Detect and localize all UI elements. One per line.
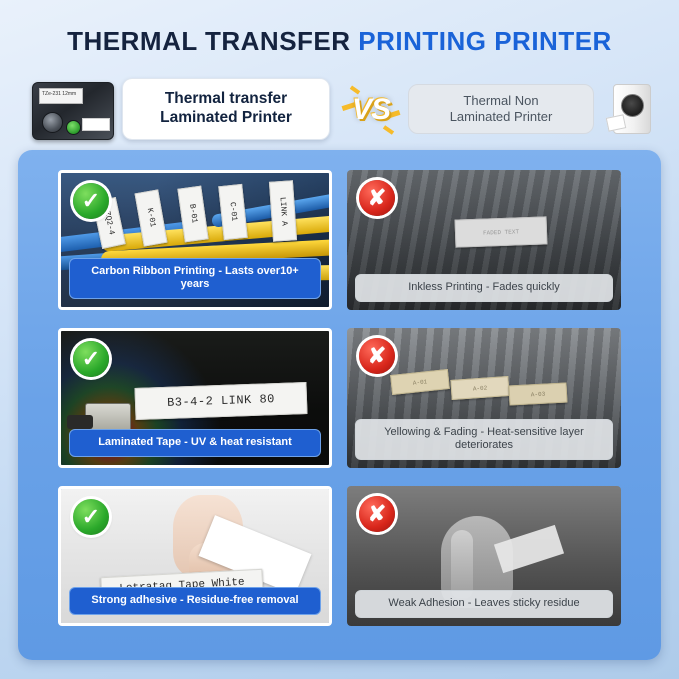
red-cross-icon: ✘ (359, 180, 395, 216)
comparison-cell-good-2: B3-4-2 LINK 80 ✓ Laminated Tape - UV & h… (58, 328, 332, 468)
tape-cassette-icon: TZe-231 12mm (32, 82, 114, 140)
rj45-cable (67, 415, 93, 429)
page-title-accent: PRINTING PRINTER (358, 26, 612, 56)
label-roll-icon (609, 80, 653, 138)
right-product-pill: Thermal Non Laminated Printer (408, 84, 594, 134)
page-title: THERMAL TRANSFER PRINTING PRINTER (0, 26, 679, 57)
right-product-label: Thermal Non Laminated Printer (450, 93, 553, 124)
red-cross-icon: ✘ (359, 338, 395, 374)
cable-label: LINK A (269, 180, 297, 242)
cassette-spool-icon (42, 112, 63, 133)
cable-label: C-01 (218, 184, 248, 240)
red-cross-icon: ✘ (359, 496, 395, 532)
green-check-icon: ✓ (73, 183, 109, 219)
vs-label: VS (340, 82, 402, 138)
caption-good-2: Laminated Tape - UV & heat resistant (69, 429, 321, 457)
caption-bad-2: Yellowing & Fading - Heat-sensitive laye… (355, 419, 613, 461)
comparison-cell-bad-1: FADED TEXT ✘ Inkless Printing - Fades qu… (347, 170, 621, 310)
green-check-icon: ✓ (73, 341, 109, 377)
caption-good-1: Carbon Ribbon Printing - Lasts over10+ y… (69, 258, 321, 300)
laminated-label: B3-4-2 LINK 80 (134, 382, 307, 420)
page-title-main: THERMAL TRANSFER (67, 26, 358, 56)
roll-core (621, 94, 644, 117)
cassette-label-text: TZe-231 12mm (39, 88, 83, 104)
yellowed-label: A-03 (509, 382, 568, 405)
comparison-cell-bad-2: A-01 A-02 A-03 ✘ Yellowing & Fading - He… (347, 328, 621, 468)
comparison-panel: ZQ2-4 K-01 B-01 C-01 LINK A ✓ Carbon Rib… (18, 150, 661, 660)
infographic-page: THERMAL TRANSFER PRINTING PRINTER TZe-23… (0, 0, 679, 679)
left-product-pill: Thermal transfer Laminated Printer (122, 78, 330, 140)
comparison-cell-good-1: ZQ2-4 K-01 B-01 C-01 LINK A ✓ Carbon Rib… (58, 170, 332, 310)
comparison-grid: ZQ2-4 K-01 B-01 C-01 LINK A ✓ Carbon Rib… (58, 170, 621, 640)
caption-bad-3: Weak Adhesion - Leaves sticky residue (355, 590, 613, 618)
vs-badge: VS (340, 82, 402, 138)
left-product-label: Thermal transfer Laminated Printer (160, 90, 292, 127)
caption-bad-1: Inkless Printing - Fades quickly (355, 274, 613, 302)
cassette-tape-exit (82, 118, 110, 131)
comparison-cell-good-3: Letratag Tape White ✓ Strong adhesive - … (58, 486, 332, 626)
caption-good-3: Strong adhesive - Residue-free removal (69, 587, 321, 615)
yellowed-label: A-02 (450, 376, 509, 400)
yellowed-label: A-01 (390, 369, 450, 395)
cassette-gear-icon (66, 120, 81, 135)
faded-label: FADED TEXT (455, 216, 548, 247)
green-check-icon: ✓ (73, 499, 109, 535)
comparison-cell-bad-3: ✘ Weak Adhesion - Leaves sticky residue (347, 486, 621, 626)
product-comparison-header: TZe-231 12mm Thermal transfer Laminated … (18, 78, 661, 140)
